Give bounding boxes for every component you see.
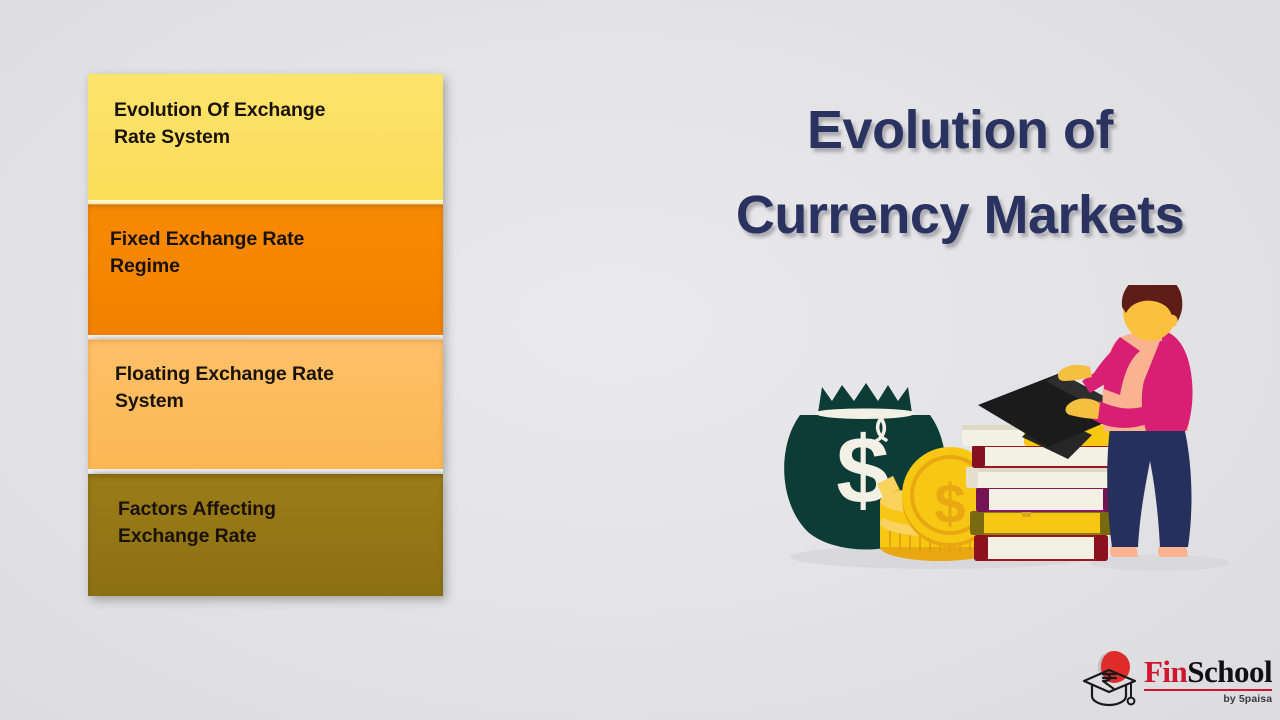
- topic-band-1-label: Evolution Of Exchange Rate System: [114, 97, 325, 151]
- finance-education-illustration: $ $: [760, 285, 1240, 585]
- person-pants: [1107, 427, 1191, 547]
- graduation-cap-rupee-icon: [1078, 648, 1142, 710]
- logo-underline: [1144, 689, 1272, 691]
- page-title-line-2: Currency Markets: [660, 173, 1260, 258]
- topic-band-1[interactable]: Evolution Of Exchange Rate System: [88, 74, 443, 204]
- svg-text:$: $: [934, 472, 965, 535]
- logo-word-fin: Fin: [1144, 654, 1187, 689]
- topic-band-4-label: Factors Affecting Exchange Rate: [118, 496, 276, 550]
- topic-band-2[interactable]: Fixed Exchange Rate Regime: [88, 204, 443, 335]
- topic-band-2-label: Fixed Exchange Rate Regime: [110, 226, 304, 280]
- topic-band-3[interactable]: Floating Exchange Rate System: [88, 339, 443, 469]
- finschool-word: FinSchool: [1144, 656, 1272, 687]
- finschool-wordmark: FinSchool by 5paisa: [1144, 654, 1272, 705]
- page-title-line-1: Evolution of: [660, 88, 1260, 173]
- topic-band-3-label: Floating Exchange Rate System: [115, 361, 334, 415]
- page-title: Evolution of Currency Markets: [660, 88, 1260, 259]
- topic-band-4[interactable]: Factors Affecting Exchange Rate: [88, 474, 443, 596]
- finschool-logo[interactable]: FinSchool by 5paisa: [1078, 646, 1274, 712]
- logo-tagline: by 5paisa: [1144, 693, 1272, 705]
- logo-word-school: School: [1187, 654, 1272, 689]
- topic-band-stack: Evolution Of Exchange Rate System Fixed …: [88, 74, 443, 596]
